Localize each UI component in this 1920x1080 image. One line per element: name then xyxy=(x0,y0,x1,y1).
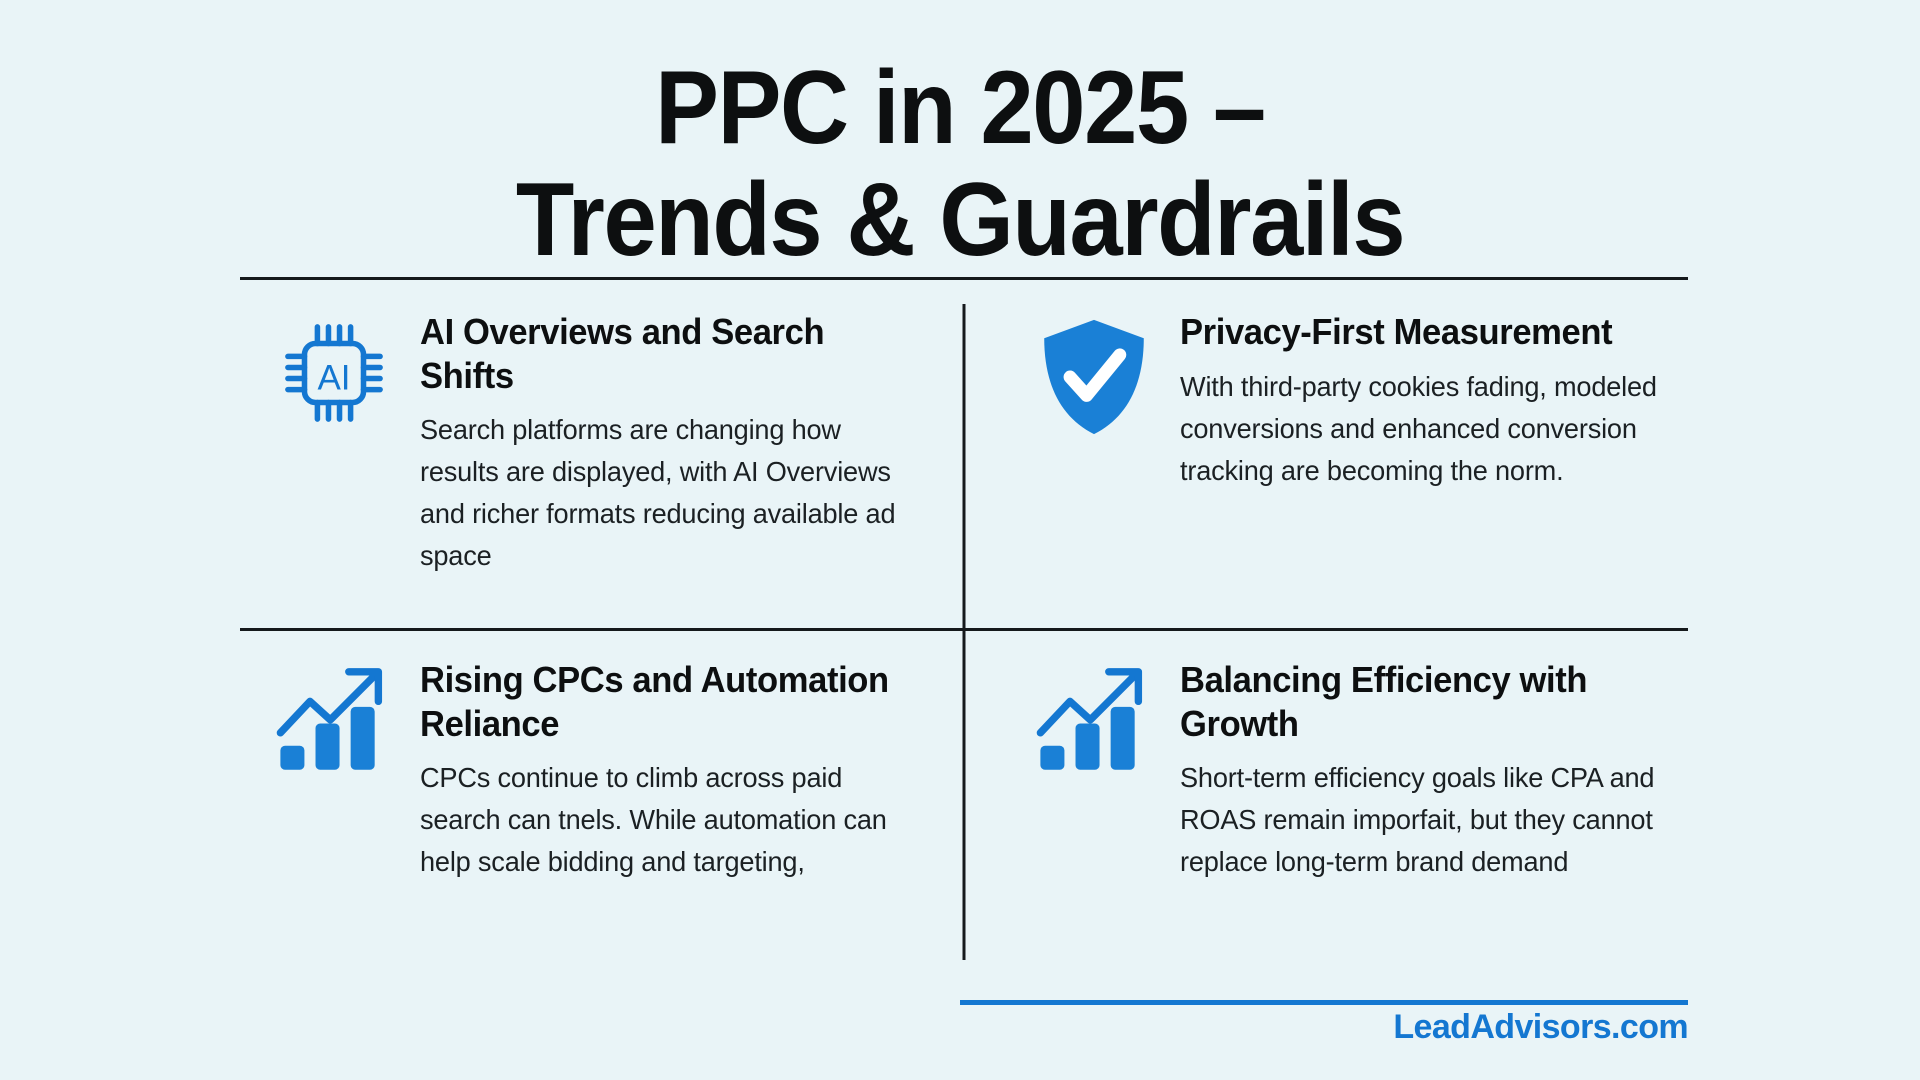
divider-middle xyxy=(240,628,1688,631)
footer-divider xyxy=(960,1000,1688,1005)
footer: LeadAdvisors.com xyxy=(960,1000,1688,1058)
infographic-poster: PPC in 2025 – Trends & Guardrails xyxy=(0,0,1920,1080)
card-body: CPCs continue to climb across paid searc… xyxy=(420,757,915,883)
card-text: Privacy-First Measurement With third-par… xyxy=(1180,310,1678,602)
divider-vertical xyxy=(963,304,966,960)
card-title: AI Overviews and Search Shifts xyxy=(420,310,910,398)
card-text: Balancing Efficiency with Growth Short-t… xyxy=(1180,658,1678,950)
card-body: Search platforms are changing how result… xyxy=(420,409,915,577)
page-title: PPC in 2025 – Trends & Guardrails xyxy=(0,0,1920,277)
card-text: Rising CPCs and Automation Reliance CPCs… xyxy=(420,658,930,950)
card-body: With third-party cookies fading, modeled… xyxy=(1180,366,1663,492)
brand-logo[interactable]: LeadAdvisors.com xyxy=(1393,1008,1688,1047)
card-privacy-first[interactable]: Privacy-First Measurement With third-par… xyxy=(964,280,1688,628)
card-rising-cpcs[interactable]: Rising CPCs and Automation Reliance CPCs… xyxy=(240,628,964,976)
shield-check-icon xyxy=(1030,310,1158,602)
card-body: Short-term efficiency goals like CPA and… xyxy=(1180,757,1663,883)
card-title: Balancing Efficiency with Growth xyxy=(1180,658,1658,746)
card-title: Rising CPCs and Automation Reliance xyxy=(420,658,910,746)
ai-chip-icon-label: AI xyxy=(317,358,350,397)
title-line-1: PPC in 2025 – xyxy=(77,52,1843,164)
title-line-2: Trends & Guardrails xyxy=(77,164,1843,276)
cards-grid: AI AI Overviews and Search Shifts Search… xyxy=(240,280,1688,976)
card-ai-overviews[interactable]: AI AI Overviews and Search Shifts Search… xyxy=(240,280,964,628)
cards-grid-wrapper: AI AI Overviews and Search Shifts Search… xyxy=(0,277,1920,1080)
growth-chart-icon xyxy=(1030,658,1158,950)
card-balancing-efficiency[interactable]: Balancing Efficiency with Growth Short-t… xyxy=(964,628,1688,976)
card-text: AI Overviews and Search Shifts Search pl… xyxy=(420,310,930,602)
card-title: Privacy-First Measurement xyxy=(1180,310,1658,354)
growth-chart-icon xyxy=(270,658,398,950)
ai-chip-icon: AI xyxy=(270,310,398,602)
